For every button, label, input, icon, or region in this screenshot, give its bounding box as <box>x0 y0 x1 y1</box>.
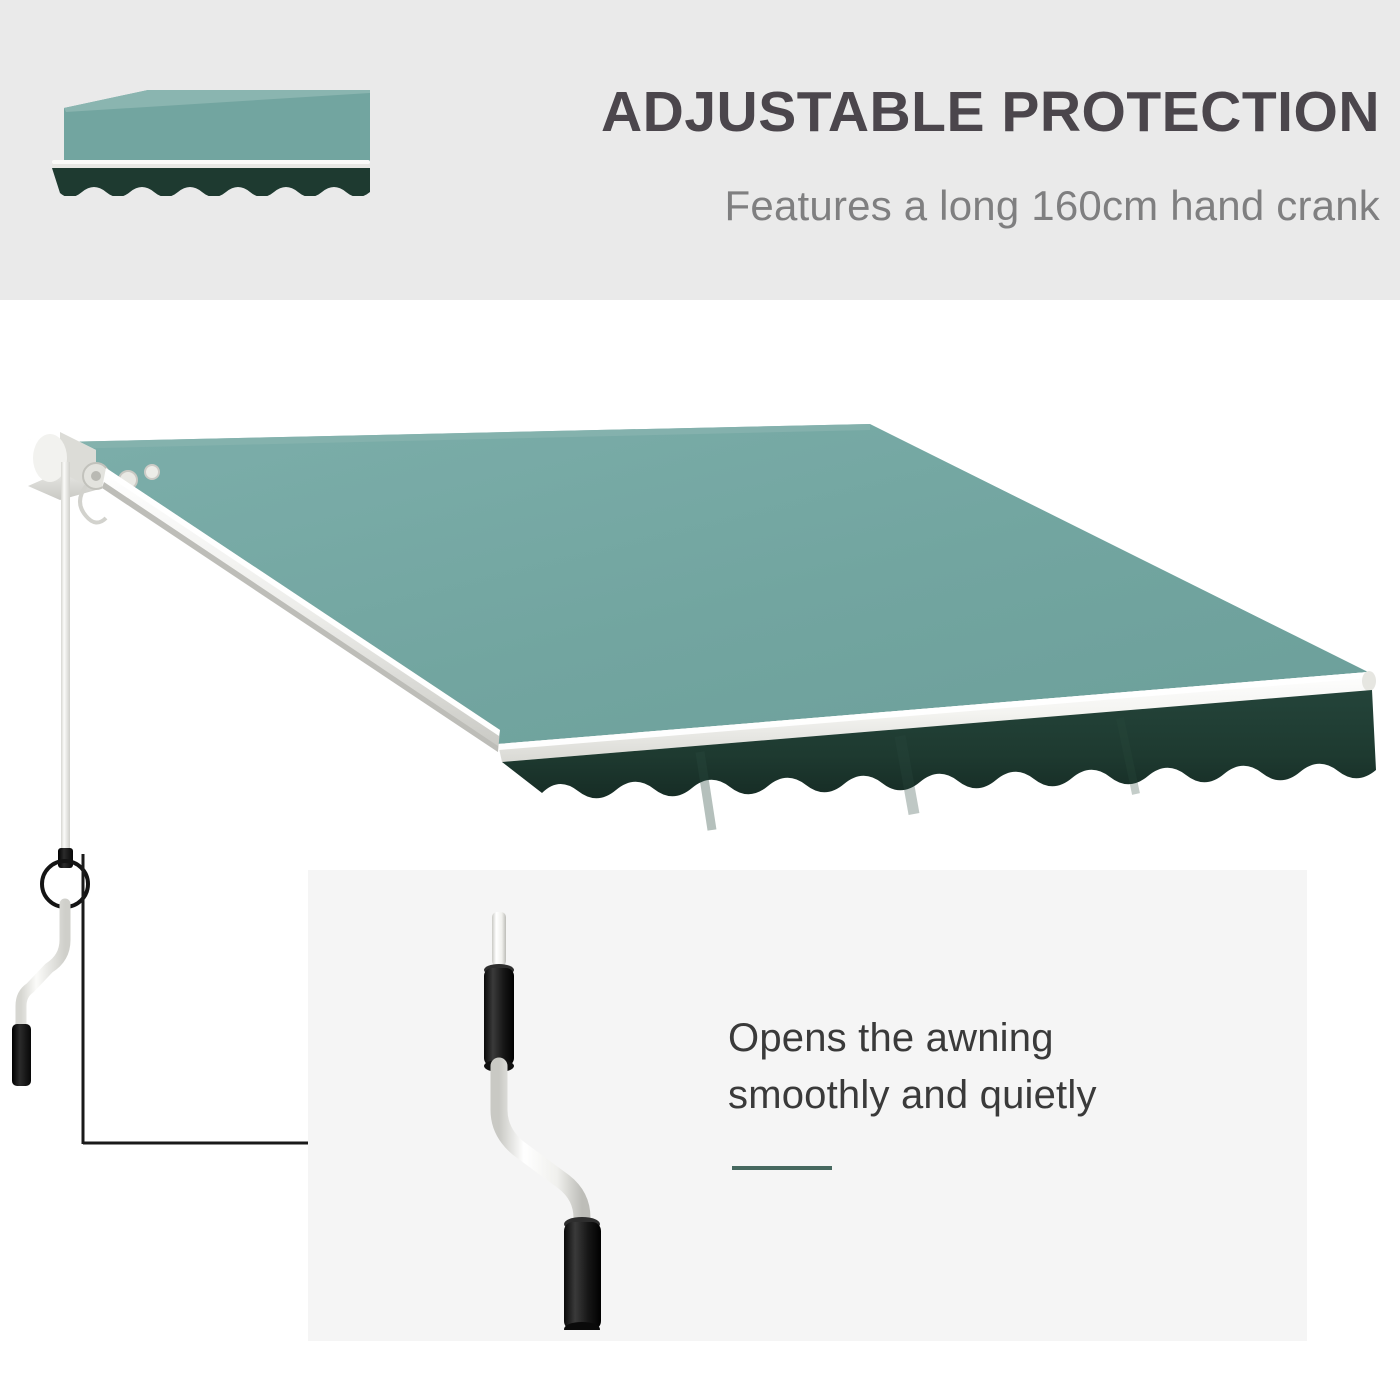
crank-caption-line-1: Opens the awning <box>728 1010 1228 1067</box>
accent-rule <box>732 1166 832 1170</box>
crank-detail-graphic <box>368 880 698 1330</box>
page-title: ADJUSTABLE PROTECTION <box>370 84 1380 141</box>
header-band: ADJUSTABLE PROTECTION Features a long 16… <box>0 0 1400 300</box>
crank-caption-line-2: smoothly and quietly <box>728 1067 1228 1124</box>
crank-detail-text: Opens the awning smoothly and quietly <box>728 1010 1228 1170</box>
crank-handle-grip <box>12 1024 31 1086</box>
crank-detail-panel: Opens the awning smoothly and quietly <box>308 870 1307 1341</box>
crank-callout-graphic <box>0 430 360 1190</box>
product-feature-page: ADJUSTABLE PROTECTION Features a long 16… <box>0 0 1400 1400</box>
awning-thumbnail-icon <box>30 76 370 196</box>
page-subtitle: Features a long 160cm hand crank <box>370 183 1380 229</box>
crank-detail-image <box>368 880 698 1330</box>
crank-bend <box>21 904 65 1036</box>
crank-collar <box>58 848 73 868</box>
hanging-crank-and-callout <box>0 430 360 1190</box>
crank-upper-grip <box>484 968 514 1066</box>
crank-top-shaft <box>492 912 506 966</box>
crank-lower-grip <box>564 1222 601 1330</box>
awning-thumbnail <box>30 76 370 196</box>
crank-z-rod <box>499 1066 582 1224</box>
crank-rod-shaft <box>61 462 70 852</box>
